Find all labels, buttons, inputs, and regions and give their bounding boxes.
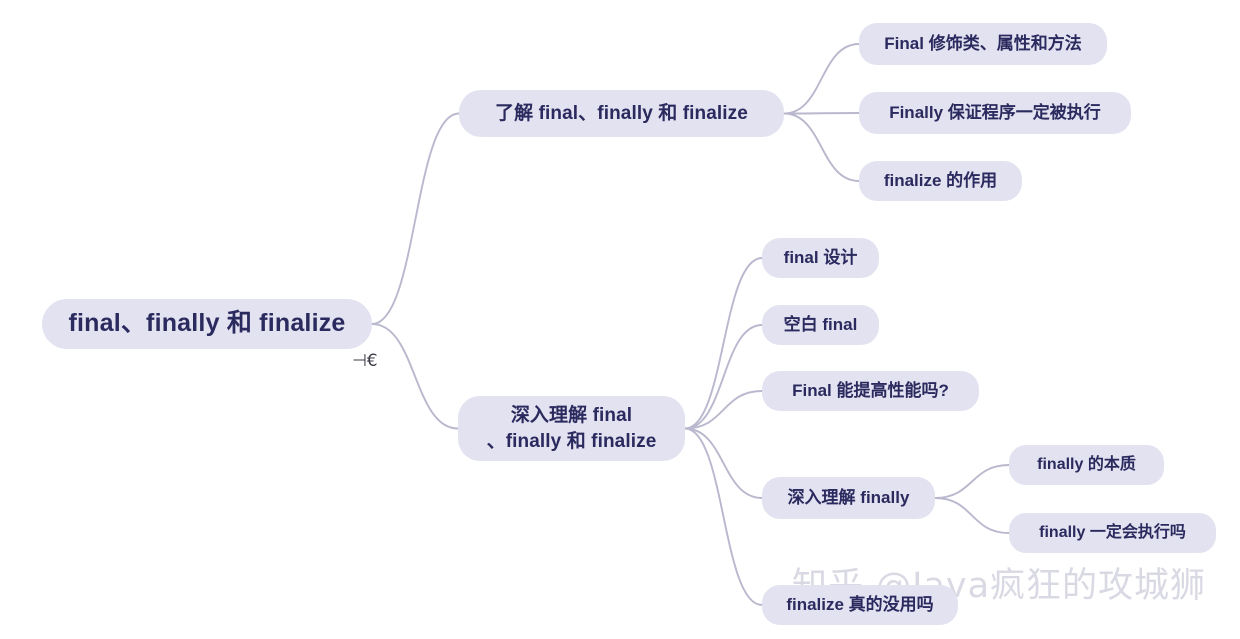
mindmap-node-label: finally 的本质 [1037,454,1136,476]
mindmap-node-label: 深入理解 final 、finally 和 finalize [487,403,657,454]
mindmap-node-label: Final 修饰类、属性和方法 [884,33,1081,56]
mindmap-node-深入理解-final-finally-和-finalize[interactable]: 深入理解 final 、finally 和 finalize [458,396,685,461]
mindmap-node-label: finally 一定会执行吗 [1039,522,1186,544]
mindmap-node-label: 深入理解 finally [788,487,910,510]
mindmap-node-final-修饰类-属性和方法[interactable]: Final 修饰类、属性和方法 [859,23,1107,65]
mindmap-node-finally-的本质[interactable]: finally 的本质 [1009,445,1164,485]
mindmap-node-finalize-真的没用吗[interactable]: finalize 真的没用吗 [762,585,958,625]
mindmap-node-label: Final 能提高性能吗? [792,380,949,403]
mindmap-node-final-设计[interactable]: final 设计 [762,238,879,278]
mindmap-node-finally-一定会执行吗[interactable]: finally 一定会执行吗 [1009,513,1216,553]
mindmap-node-finally-保证程序一定被执行[interactable]: Finally 保证程序一定被执行 [859,92,1131,134]
mindmap-node-深入理解-finally[interactable]: 深入理解 finally [762,477,935,519]
mindmap-node-label: finalize 的作用 [884,170,997,193]
mindmap-node-label: 空白 final [784,314,858,337]
mindmap-node-label: Finally 保证程序一定被执行 [889,102,1101,125]
mindmap-node-label: finalize 真的没用吗 [786,594,933,617]
mindmap-node-label: final、finally 和 finalize [68,307,345,341]
mindmap-node-finalize-的作用[interactable]: finalize 的作用 [859,161,1022,201]
mindmap-node-label: final 设计 [784,247,858,270]
mindmap-canvas: 知乎 @Java疯狂的攻城狮 final、finally 和 finalize了… [0,0,1240,639]
collapse-toggle-icon[interactable]: ⊣€ [352,350,378,372]
mindmap-node-final-能提高性能吗[interactable]: Final 能提高性能吗? [762,371,979,411]
mindmap-node-空白-final[interactable]: 空白 final [762,305,879,345]
mindmap-node-label: 了解 final、finally 和 finalize [495,101,748,127]
mindmap-node-final-finally-和-finalize[interactable]: final、finally 和 finalize [42,299,372,349]
mindmap-node-了解-final-finally-和-finalize[interactable]: 了解 final、finally 和 finalize [459,90,784,137]
